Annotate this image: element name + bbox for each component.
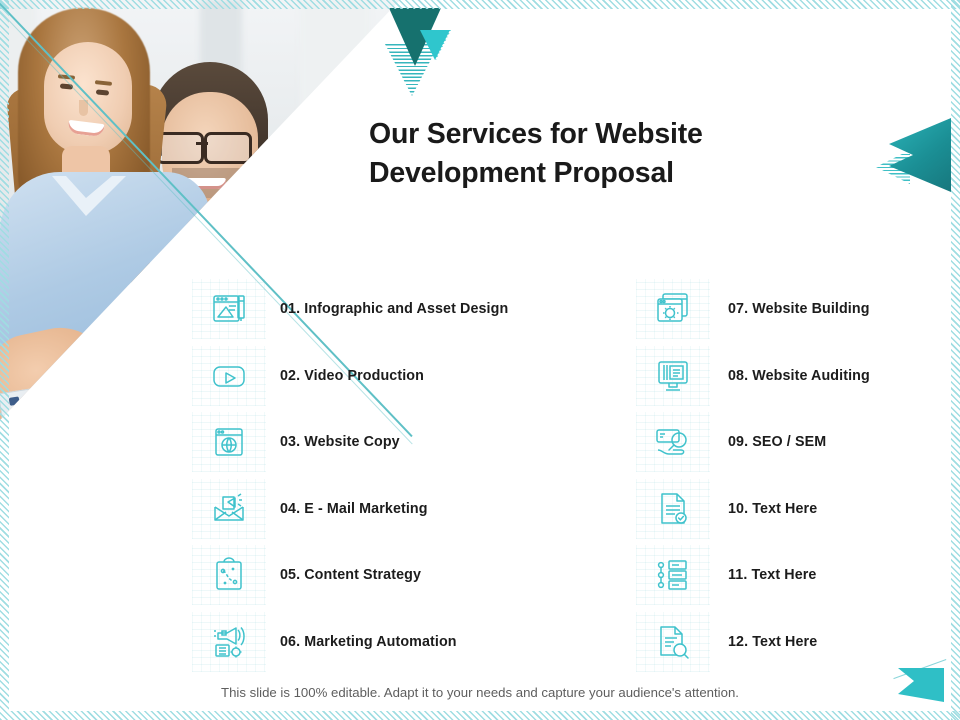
frame-border-bottom — [0, 711, 960, 720]
list-item-label: 04. E - Mail Marketing — [280, 501, 428, 517]
top-triangle-cyan-icon — [420, 30, 450, 60]
list-item-label: 01. Infographic and Asset Design — [280, 301, 508, 317]
list-item-label: 12. Text Here — [728, 634, 817, 650]
services-left-column: 01. Infographic and Asset Design 02. Vid… — [196, 276, 556, 675]
right-arrow-icon — [889, 118, 951, 192]
list-item[interactable]: 03. Website Copy — [196, 409, 556, 476]
clipboard-strategy-icon — [196, 547, 262, 603]
list-item[interactable]: 09. SEO / SEM — [640, 409, 912, 476]
megaphone-gear-icon — [196, 614, 262, 670]
document-check-icon — [640, 481, 706, 537]
list-item[interactable]: 01. Infographic and Asset Design — [196, 276, 556, 343]
monitor-document-icon — [640, 348, 706, 404]
list-item[interactable]: 05. Content Strategy — [196, 542, 556, 609]
page-title-line2: Development Proposal — [369, 154, 839, 193]
list-item-label: 02. Video Production — [280, 368, 424, 384]
list-item-label: 03. Website Copy — [280, 434, 400, 450]
list-item[interactable]: 11. Text Here — [640, 542, 912, 609]
list-item[interactable]: 10. Text Here — [640, 476, 912, 543]
page-title: Our Services for Website Development Pro… — [369, 115, 839, 194]
list-item[interactable]: 08. Website Auditing — [640, 343, 912, 410]
browser-gear-icon — [640, 281, 706, 337]
page-title-line1: Our Services for Website — [369, 115, 839, 154]
hand-magnifier-icon — [640, 414, 706, 470]
list-item-label: 11. Text Here — [728, 567, 816, 583]
list-item-label: 08. Website Auditing — [728, 368, 870, 384]
services-right-column: 07. Website Building 08. Website Auditin… — [640, 276, 912, 675]
footer-note: This slide is 100% editable. Adapt it to… — [0, 685, 960, 700]
list-item[interactable]: 07. Website Building — [640, 276, 912, 343]
list-item-label: 06. Marketing Automation — [280, 634, 457, 650]
frame-border-right — [951, 0, 960, 720]
video-play-icon — [196, 348, 262, 404]
list-nodes-icon — [640, 547, 706, 603]
list-item[interactable]: 06. Marketing Automation — [196, 609, 556, 676]
slide-canvas: Our Services for Website Development Pro… — [0, 0, 960, 720]
envelope-megaphone-icon — [196, 481, 262, 537]
list-item-label: 10. Text Here — [728, 501, 817, 517]
list-item[interactable]: 04. E - Mail Marketing — [196, 476, 556, 543]
browser-globe-icon — [196, 414, 262, 470]
list-item[interactable]: 02. Video Production — [196, 343, 556, 410]
list-item-label: 07. Website Building — [728, 301, 870, 317]
list-item-label: 05. Content Strategy — [280, 567, 421, 583]
document-search-icon — [640, 614, 706, 670]
list-item[interactable]: 12. Text Here — [640, 609, 912, 676]
list-item-label: 09. SEO / SEM — [728, 434, 826, 450]
browser-design-pencil-ruler-icon — [196, 281, 262, 337]
